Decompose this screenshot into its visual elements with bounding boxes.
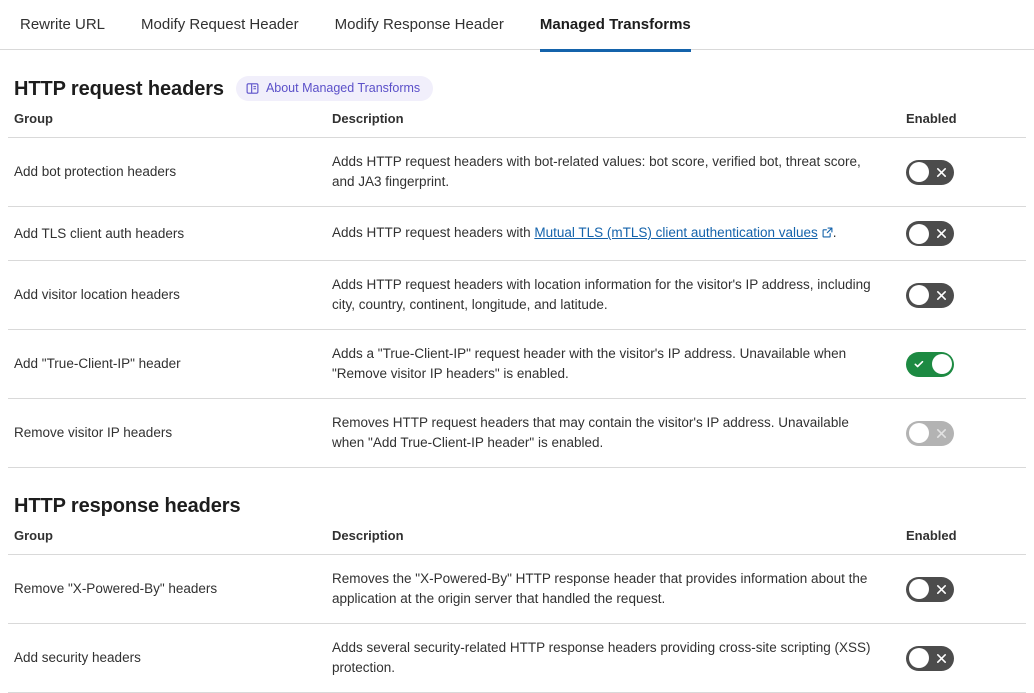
section-title-response: HTTP response headers	[14, 494, 241, 518]
close-icon	[929, 577, 954, 602]
table-header-row: Group Description Enabled	[8, 111, 1026, 138]
row-description: Adds a "True-Client-IP" request header w…	[326, 330, 900, 399]
tab-modify-response-header[interactable]: Modify Response Header	[335, 0, 504, 52]
toggle-knob	[909, 648, 929, 668]
row-description: Adds HTTP request headers with Mutual TL…	[326, 207, 900, 261]
mtls-docs-link[interactable]: Mutual TLS (mTLS) client authentication …	[534, 225, 817, 240]
section-header: HTTP request headers About Managed Trans…	[8, 50, 1026, 111]
managed-transforms-response-table: Group Description Enabled Remove "X-Powe…	[8, 528, 1026, 693]
close-icon	[929, 283, 954, 308]
column-header-group: Group	[8, 528, 326, 555]
column-header-description: Description	[326, 111, 900, 138]
about-badge-label: About Managed Transforms	[266, 81, 420, 96]
tab-bar: Rewrite URL Modify Request Header Modify…	[0, 0, 1034, 50]
about-managed-transforms-badge[interactable]: About Managed Transforms	[236, 76, 433, 101]
external-link-icon[interactable]	[822, 224, 833, 244]
managed-transforms-request-table: Group Description Enabled Add bot protec…	[8, 111, 1026, 468]
toggle-knob	[932, 354, 952, 374]
book-icon	[246, 82, 259, 95]
table-row: Add bot protection headers Adds HTTP req…	[8, 138, 1026, 207]
row-enabled-cell	[900, 555, 1026, 624]
row-description: Adds HTTP request headers with location …	[326, 261, 900, 330]
toggle-remove-x-powered-by-headers[interactable]	[906, 577, 954, 602]
tab-managed-transforms[interactable]: Managed Transforms	[540, 0, 691, 52]
description-prefix: Adds HTTP request headers with	[332, 225, 534, 240]
column-header-group: Group	[8, 111, 326, 138]
row-group-label: Add bot protection headers	[8, 138, 326, 207]
tab-rewrite-url[interactable]: Rewrite URL	[20, 0, 105, 52]
row-group-label: Add security headers	[8, 624, 326, 693]
row-description: Removes HTTP request headers that may co…	[326, 399, 900, 468]
toggle-knob	[909, 224, 929, 244]
table-row: Add TLS client auth headers Adds HTTP re…	[8, 207, 1026, 261]
section-http-request-headers: HTTP request headers About Managed Trans…	[8, 50, 1026, 468]
tab-modify-request-header[interactable]: Modify Request Header	[141, 0, 299, 52]
toggle-add-true-client-ip-header[interactable]	[906, 352, 954, 377]
toggle-add-tls-client-auth-headers[interactable]	[906, 221, 954, 246]
section-http-response-headers: HTTP response headers Group Description …	[8, 468, 1026, 693]
page-content: HTTP request headers About Managed Trans…	[0, 50, 1034, 693]
row-description: Removes the "X-Powered-By" HTTP response…	[326, 555, 900, 624]
toggle-knob	[909, 579, 929, 599]
row-group-label: Add "True-Client-IP" header	[8, 330, 326, 399]
table-row: Add security headers Adds several securi…	[8, 624, 1026, 693]
toggle-add-bot-protection-headers[interactable]	[906, 160, 954, 185]
row-description: Adds several security-related HTTP respo…	[326, 624, 900, 693]
close-icon	[929, 221, 954, 246]
table-row: Remove "X-Powered-By" headers Removes th…	[8, 555, 1026, 624]
toggle-knob	[909, 162, 929, 182]
row-enabled-cell	[900, 624, 1026, 693]
toggle-add-security-headers[interactable]	[906, 646, 954, 671]
check-icon	[906, 352, 931, 377]
column-header-enabled: Enabled	[900, 111, 1026, 138]
row-enabled-cell	[900, 399, 1026, 468]
row-group-label: Remove "X-Powered-By" headers	[8, 555, 326, 624]
row-group-label: Add TLS client auth headers	[8, 207, 326, 261]
table-row: Add visitor location headers Adds HTTP r…	[8, 261, 1026, 330]
column-header-description: Description	[326, 528, 900, 555]
column-header-enabled: Enabled	[900, 528, 1026, 555]
row-group-label: Add visitor location headers	[8, 261, 326, 330]
table-row: Add "True-Client-IP" header Adds a "True…	[8, 330, 1026, 399]
row-enabled-cell	[900, 330, 1026, 399]
toggle-knob	[909, 285, 929, 305]
close-icon	[929, 160, 954, 185]
toggle-knob	[909, 423, 929, 443]
close-icon	[929, 421, 954, 446]
table-header-row: Group Description Enabled	[8, 528, 1026, 555]
page-title: HTTP request headers	[14, 77, 224, 101]
row-enabled-cell	[900, 261, 1026, 330]
row-description: Adds HTTP request headers with bot-relat…	[326, 138, 900, 207]
toggle-remove-visitor-ip-headers	[906, 421, 954, 446]
row-enabled-cell	[900, 207, 1026, 261]
table-row: Remove visitor IP headers Removes HTTP r…	[8, 399, 1026, 468]
section-header: HTTP response headers	[8, 468, 1026, 528]
close-icon	[929, 646, 954, 671]
row-enabled-cell	[900, 138, 1026, 207]
toggle-add-visitor-location-headers[interactable]	[906, 283, 954, 308]
row-group-label: Remove visitor IP headers	[8, 399, 326, 468]
description-suffix: .	[833, 225, 837, 240]
